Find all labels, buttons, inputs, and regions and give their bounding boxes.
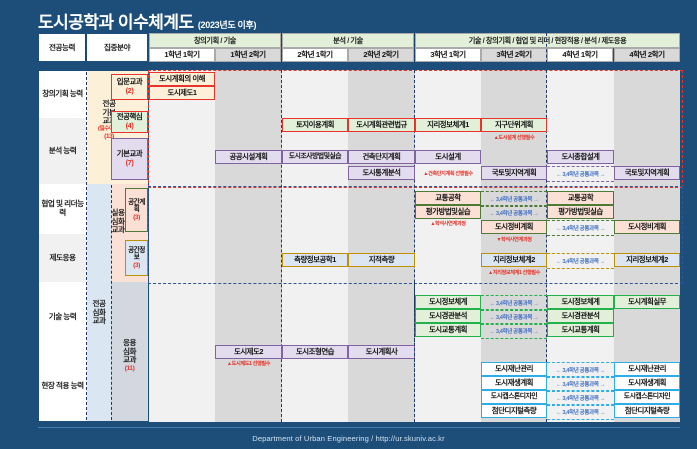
semester-header-2: 1학년 2학기 — [215, 48, 281, 62]
focus-applied-label: 응용 심화 교과 — [123, 339, 136, 365]
course-box[interactable]: 지구단위계획 — [481, 118, 547, 132]
competency-analysis: 분석 능력 — [39, 118, 86, 184]
course-box[interactable]: 도시정보체계 — [547, 295, 614, 309]
focus-sub-spaceplan: 공간계획 (3) — [125, 188, 148, 232]
course-box[interactable]: 국토및지역계획 — [614, 166, 680, 180]
focus-sub-intro-count: (2) — [126, 87, 134, 96]
footer-divider — [38, 427, 680, 428]
bottom-year-divider — [414, 282, 415, 422]
semester-header-3: 2학년 1학기 — [282, 48, 348, 62]
course-box[interactable]: 도시제도1 — [149, 86, 215, 100]
semester-header-7: 4학년 1학기 — [547, 48, 613, 62]
course-box[interactable]: 측량정보공학1 — [282, 253, 348, 267]
prereq-note: ▲지리정보체계1 선행필수 — [481, 268, 547, 277]
linked-program-note-down: ▼학석사연계과정 — [481, 235, 547, 244]
header-divider — [85, 35, 86, 60]
course-box[interactable]: 도시조형연습 — [282, 345, 348, 359]
course-box[interactable]: 도시계획실무 — [614, 295, 680, 309]
shared-course-link: ← 3,4학년 공통과목 → — [547, 166, 614, 182]
focus-sub-core-count: (4) — [126, 122, 134, 131]
course-box[interactable]: 토지이용계획 — [282, 118, 348, 132]
competency-field: 현장 적용 능력 — [39, 352, 86, 421]
course-box[interactable]: 도시제도2 — [215, 345, 282, 359]
course-box[interactable]: 도시정비계획 — [481, 220, 547, 234]
course-box[interactable]: 도시경관분석 — [547, 309, 614, 323]
shared-course-link: ← 3,4학년 공통과목 → — [547, 253, 614, 269]
course-box[interactable]: 도시정보체계 — [415, 295, 481, 309]
course-box[interactable]: 지적측량 — [348, 253, 415, 267]
shared-course-link: ← 3,4학년 공통과목 → — [547, 404, 614, 420]
course-box[interactable]: 도시캡스톤디자인 — [614, 390, 680, 404]
footer-text: Department of Urban Engineering / http:/… — [0, 434, 697, 443]
focus-sub-spaceinfo-count: (3) — [133, 262, 140, 270]
course-box[interactable]: 도시계획의 이해 — [149, 72, 215, 86]
title-subtitle: (2023년도 이후) — [198, 20, 256, 30]
course-box[interactable]: 도시통계분석 — [348, 166, 415, 180]
year-divider-head-2 — [414, 33, 415, 63]
course-box[interactable]: 지리정보체계2 — [614, 253, 680, 267]
course-box[interactable]: 평가방법및실습 — [547, 205, 614, 219]
title-text: 도시공학과 이수체계도 — [38, 13, 194, 32]
semester-header-5: 3학년 1학기 — [415, 48, 481, 62]
year-divider-head-1 — [281, 33, 282, 63]
semester-header-4: 2학년 2학기 — [348, 48, 414, 62]
course-box[interactable]: 첨단디지털측량 — [481, 404, 547, 418]
prereq-note: ▲도시제도1 선행필수 — [215, 359, 282, 368]
course-box[interactable]: 도시계획관련법규 — [348, 118, 415, 132]
focus-subdivider — [111, 185, 112, 420]
linked-program-note: ▲학석사연계과정 — [415, 219, 481, 228]
competency-creative: 창의기획 능력 — [39, 71, 86, 118]
shared-course-link: ← 3,4학년 공통과목 → — [481, 323, 547, 339]
course-box[interactable]: 도시재난관리 — [614, 362, 680, 376]
col-bg-1 — [149, 70, 215, 422]
semester-header-6: 3학년 2학기 — [481, 48, 547, 62]
course-box[interactable]: 건축단지계획 — [348, 150, 415, 164]
header-competency-label: 전공능력 — [38, 33, 86, 62]
course-box[interactable]: 도시종합설계 — [547, 150, 614, 164]
focus-advanced-label: 전공 심화 교과 — [87, 290, 111, 336]
year-divider-head-3 — [546, 33, 547, 63]
competency-tech: 기술 능력 — [39, 282, 86, 352]
page-title: 도시공학과 이수체계도 (2023년도 이후) — [38, 8, 256, 33]
course-box[interactable]: 도시계획사 — [348, 345, 415, 359]
focus-sub-spaceplan-label: 공간계획 — [126, 199, 147, 214]
shared-course-link: ← 3,4학년 공통과목 → — [547, 220, 614, 236]
course-box[interactable]: 평가방법및실습 — [415, 205, 481, 219]
course-box[interactable]: 도시재생계획 — [614, 376, 680, 390]
course-box[interactable]: 국토및지역계획 — [481, 166, 547, 180]
course-box[interactable]: 지리정보체계1 — [415, 118, 481, 132]
prereq-note: ▲도시설계 선행필수 — [481, 133, 547, 141]
competency-collab: 협업 및 리더능력 — [39, 184, 86, 234]
course-box[interactable]: 첨단디지털측량 — [614, 404, 680, 418]
focus-sub-spaceplan-count: (3) — [133, 214, 140, 222]
band-year34: 기술 / 창의기획 / 협업 및 리더 / 현장적용 / 분석 / 제도응용 — [415, 33, 680, 48]
prereq-note: ▲건축단지계획 선행필수 — [415, 166, 481, 180]
focus-sub-spaceinfo: 공간정보 (3) — [125, 240, 148, 276]
semester-header-8: 4학년 2학기 — [614, 48, 680, 62]
course-box[interactable]: 교통공학 — [547, 191, 614, 205]
course-box[interactable]: 도시교통계획 — [547, 323, 614, 337]
course-box[interactable]: 도시캡스톤디자인 — [481, 390, 547, 404]
course-box[interactable]: 도시정비계획 — [614, 220, 680, 234]
focus-applied: 응용 심화 교과 (11) — [111, 330, 148, 382]
shared-course-link: ← 3,4학년 공통과목 → — [481, 205, 547, 221]
band-year2: 분석 / 기술 — [282, 33, 414, 48]
course-box[interactable]: 도시설계 — [415, 150, 481, 164]
course-box[interactable]: 도시경관분석 — [415, 309, 481, 323]
header-focus-label: 집중분야 — [86, 33, 148, 62]
course-box[interactable]: 지리정보체계2 — [481, 253, 547, 267]
focus-sub-intro: 입문교과 (2) — [111, 74, 148, 100]
semester-header-1: 1학년 1학기 — [149, 48, 215, 62]
focus-sub-spaceinfo-label: 공간정보 — [126, 247, 147, 262]
focus-sub-fundamental: 기본교과 (7) — [111, 138, 148, 180]
focus-practical-label: 실용 심화 교과 — [111, 198, 125, 246]
focus-sub-fundamental-count: (7) — [126, 159, 134, 168]
diagram-root: 도시공학과 이수체계도 (2023년도 이후) 전공능력 집중분야 창의기획 /… — [0, 0, 697, 449]
course-box[interactable]: 도시조사방법및실습 — [282, 150, 348, 164]
course-box[interactable]: 도시재난관리 — [481, 362, 547, 376]
course-box[interactable]: 교통공학 — [415, 191, 481, 205]
competency-system: 제도응용 — [39, 234, 86, 282]
focus-sub-core: 전공핵심 (4) — [111, 111, 148, 133]
course-box[interactable]: 공공시설계획 — [215, 150, 282, 164]
course-box[interactable]: 도시교통계획 — [415, 323, 481, 337]
course-box[interactable]: 도시재생계획 — [481, 376, 547, 390]
focus-applied-count: (11) — [125, 365, 135, 373]
band-year1: 창의기획 / 기술 — [149, 33, 281, 48]
col-bg-2 — [215, 70, 282, 422]
